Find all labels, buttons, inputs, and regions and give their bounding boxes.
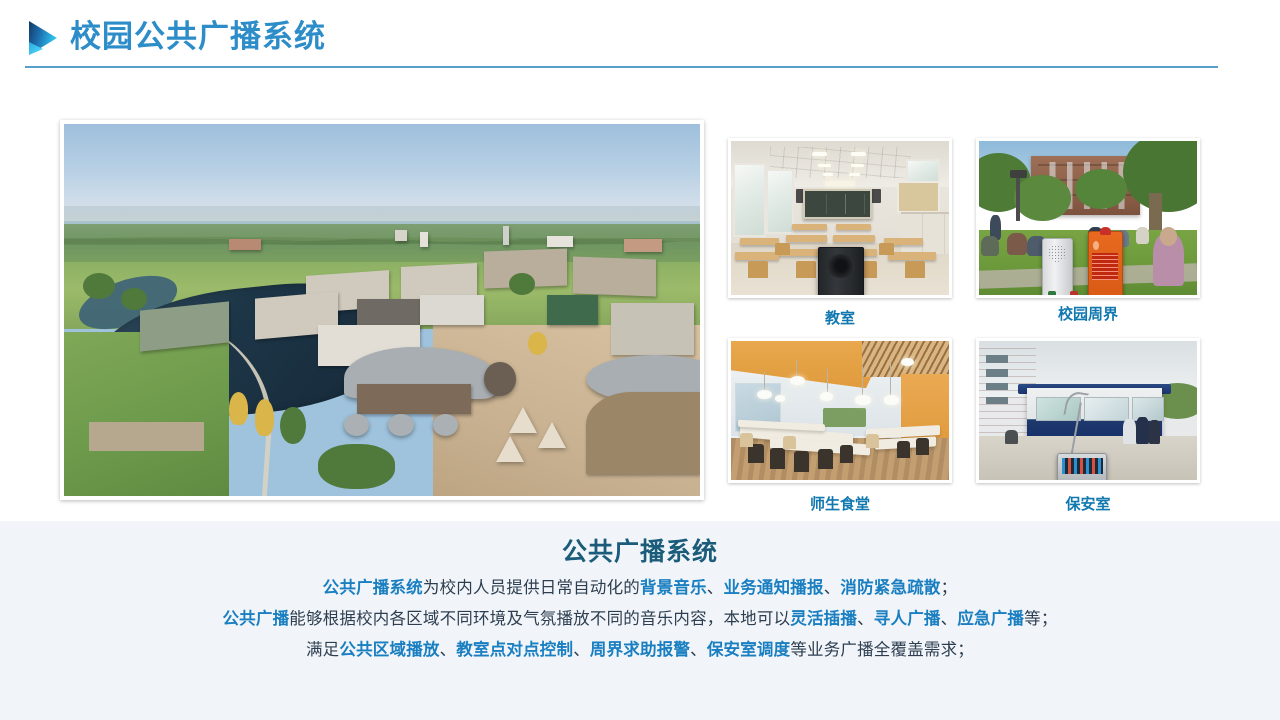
notice-window [1084, 397, 1130, 421]
green-partition [823, 408, 867, 427]
tree [280, 407, 305, 444]
emergency-intercom-terminal [1042, 238, 1072, 295]
distant-tower [503, 226, 509, 245]
ceiling-light [851, 152, 866, 156]
banner-description: 公共广播系统为校内人员提供日常自动化的背景音乐、业务通知播报、消防紧急疏散；公共… [0, 573, 1280, 666]
bicycle [1005, 430, 1018, 444]
keyword-highlight: 公共广播 [222, 610, 289, 628]
campus-perimeter-caption: 校园周界 [976, 303, 1200, 324]
ceiling-light [851, 164, 864, 167]
classroom-photo [728, 138, 952, 298]
page-title: 校园公共广播系统 [70, 15, 326, 59]
person-head [1160, 227, 1177, 245]
chair [897, 441, 910, 458]
body-text: 、 [824, 579, 841, 597]
student-desk [792, 224, 827, 230]
person [1149, 420, 1160, 444]
construction-site [89, 422, 203, 452]
person [1123, 419, 1136, 444]
round-tower [484, 362, 516, 395]
student-desk [735, 252, 779, 260]
building-window [986, 369, 1009, 377]
building-window [986, 355, 1009, 363]
chair [794, 451, 809, 472]
banner-line: 公共广播能够根据校内各区域不同环境及气氛播放不同的音乐内容，本地可以灵活插播、寻… [0, 604, 1280, 635]
page-header: 校园公共广播系统 [0, 0, 1280, 80]
body-text: 等业务广播全覆盖需求； [790, 641, 974, 659]
canteen-caption: 师生食堂 [728, 493, 952, 514]
canopy-tent [496, 436, 524, 462]
canopy-tent [538, 422, 566, 448]
green-facade-block [547, 295, 598, 325]
curved-building-facade [357, 384, 471, 414]
canopy-tent [509, 407, 537, 433]
body-text: 、 [857, 610, 874, 628]
chair [879, 243, 894, 255]
alarm-lamp-icon [1100, 227, 1110, 235]
distant-building [547, 236, 572, 247]
chair [770, 448, 785, 469]
pendant-cord [862, 366, 863, 397]
student-desk [836, 224, 871, 230]
chair [748, 444, 763, 463]
pendant-cord [764, 372, 765, 391]
keyword-highlight: 公共区域播放 [339, 641, 439, 659]
security-room-photo [976, 338, 1200, 483]
campus-aerial-photo [60, 120, 704, 500]
blackboard [803, 189, 872, 219]
pendant-cord [796, 360, 797, 377]
body-text: 、 [941, 610, 958, 628]
pendant-cord [890, 363, 891, 396]
chair [740, 433, 753, 447]
distant-building [395, 230, 408, 241]
paging-console [1057, 453, 1107, 480]
call-button [1093, 241, 1099, 250]
lamp-head [1010, 170, 1027, 178]
body-text: ； [941, 579, 958, 597]
body-text: 能够根据校内各区域不同环境及气氛播放不同的音乐内容，本地可以 [289, 610, 790, 628]
header-divider [25, 66, 1218, 68]
campus-perimeter-photo [976, 138, 1200, 298]
tree-canopy [1075, 169, 1127, 209]
distant-houses [229, 239, 261, 250]
body-text: 、 [690, 641, 707, 659]
keyword-highlight: 寻人广播 [874, 610, 941, 628]
building-window [986, 383, 1009, 391]
canteen-photo [728, 338, 952, 483]
academic-block [611, 303, 694, 355]
ceiling-light [818, 164, 831, 167]
chair [866, 434, 879, 448]
student-desk [740, 238, 779, 245]
projector [825, 181, 856, 186]
autumn-tree [255, 399, 274, 436]
person-seated [981, 236, 998, 256]
ceiling-light [812, 152, 827, 156]
pendant-cord [827, 369, 828, 394]
pendant-light [855, 395, 870, 405]
pendant-light [884, 395, 899, 405]
classroom-caption: 教室 [728, 307, 952, 328]
body-text: 、 [440, 641, 457, 659]
keyword-highlight: 消防紧急疏散 [840, 579, 940, 597]
tree-canopy [1014, 175, 1071, 221]
tree [121, 288, 146, 310]
chair [916, 438, 929, 455]
classroom-window [733, 163, 765, 238]
keyword-highlight: 教室点对点控制 [456, 641, 573, 659]
academic-block [420, 295, 484, 325]
banner-line: 公共广播系统为校内人员提供日常自动化的背景音乐、业务通知播报、消防紧急疏散； [0, 573, 1280, 604]
tree [509, 273, 534, 295]
body-text: 为校内人员提供日常自动化的 [423, 579, 640, 597]
distant-tower [420, 232, 428, 247]
body-text: 、 [573, 641, 590, 659]
summary-banner: 公共广播系统 公共广播系统为校内人员提供日常自动化的背景音乐、业务通知播报、消防… [0, 521, 1280, 720]
lakeside-pod [344, 414, 369, 436]
keyword-highlight: 周界求助报警 [590, 641, 690, 659]
lamp-post [1016, 175, 1020, 221]
notice-board [897, 181, 940, 213]
shrub-cluster [318, 444, 394, 489]
autumn-tree [528, 332, 547, 354]
distant-houses [624, 239, 662, 252]
chair [796, 261, 816, 278]
keyword-highlight: 应急广播 [957, 610, 1024, 628]
keyword-highlight: 公共广播系统 [323, 579, 423, 597]
banner-line: 满足公共区域播放、教室点对点控制、周界求助报警、保安室调度等业务广播全覆盖需求； [0, 635, 1280, 666]
chair [840, 445, 853, 463]
autumn-tree [229, 392, 248, 425]
floor-standing-speaker [818, 247, 864, 295]
emergency-call-box [1088, 231, 1123, 295]
building-window [986, 397, 1009, 405]
ceiling-light [849, 173, 860, 176]
banner-title: 公共广播系统 [0, 532, 1280, 568]
classroom-window [766, 169, 794, 235]
body-text: 满足 [306, 641, 339, 659]
chair [818, 449, 833, 468]
chair [905, 261, 925, 278]
round-building-facade [586, 392, 700, 474]
residence-block [573, 256, 656, 296]
student-desk [888, 252, 936, 260]
keyword-highlight: 背景音乐 [640, 579, 707, 597]
person [1136, 417, 1149, 443]
body-text: 等； [1024, 610, 1057, 628]
keyword-highlight: 灵活插播 [790, 610, 857, 628]
triangle-right-icon [25, 18, 65, 58]
tree [83, 273, 115, 299]
student-desk [786, 235, 827, 242]
guard-window [1132, 397, 1165, 421]
keyword-highlight: 保安室调度 [707, 641, 791, 659]
pendant-light [820, 392, 833, 400]
chair [775, 243, 790, 255]
chair [783, 436, 796, 450]
ceiling-spot [901, 358, 914, 366]
lakeside-pod [388, 414, 413, 436]
chair [748, 261, 768, 278]
student-desk [833, 235, 874, 242]
body-text: 、 [707, 579, 724, 597]
security-room-caption: 保安室 [976, 493, 1200, 514]
console-screen [1062, 458, 1102, 474]
person-seated [1136, 227, 1149, 244]
instruction-plate [1092, 253, 1118, 280]
ceiling-light [823, 173, 834, 176]
keyword-highlight: 业务通知播报 [724, 579, 824, 597]
side-cabinet [901, 212, 949, 254]
person-seated [1007, 233, 1027, 255]
